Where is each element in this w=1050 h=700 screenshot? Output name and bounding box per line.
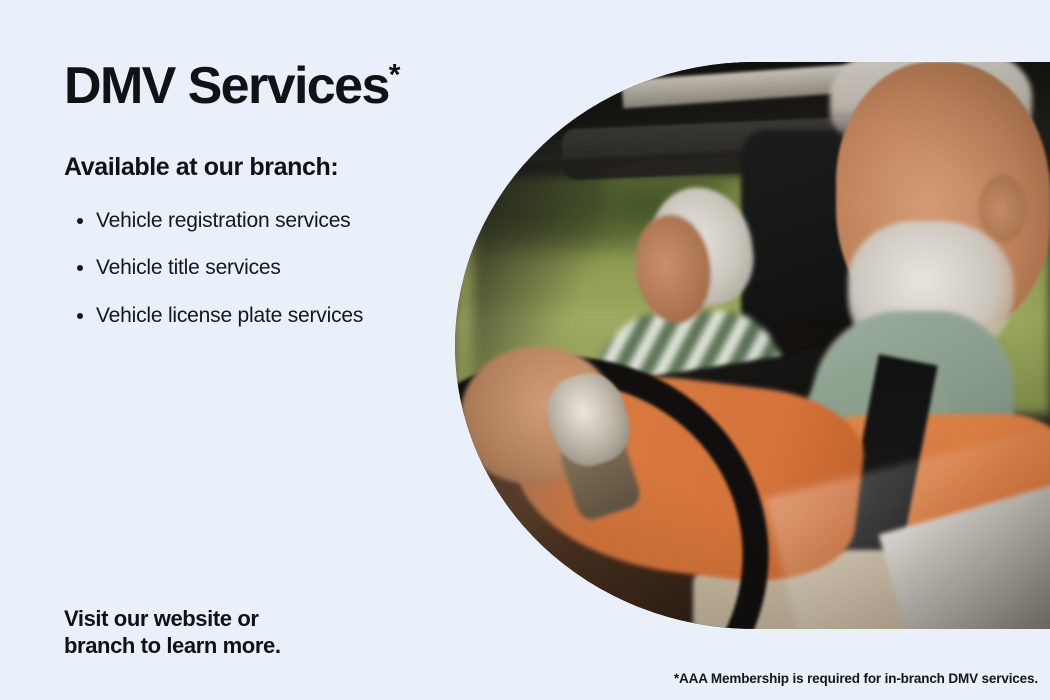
driver-photo bbox=[455, 62, 1050, 629]
bullet-icon bbox=[77, 218, 83, 224]
cta-line-2: branch to learn more. bbox=[64, 633, 281, 660]
photo-vignette bbox=[455, 62, 1050, 629]
cta-line-1: Visit our website or bbox=[64, 606, 259, 631]
list-item-label: Vehicle registration services bbox=[96, 209, 351, 232]
list-item-label: Vehicle license plate services bbox=[96, 304, 363, 327]
list-item: Vehicle registration services bbox=[64, 208, 464, 234]
call-to-action: Visit our website or branch to learn mor… bbox=[64, 606, 281, 660]
bullet-icon bbox=[77, 313, 83, 319]
page-title-text: DMV Services bbox=[64, 57, 389, 115]
services-list: Vehicle registration services Vehicle ti… bbox=[64, 208, 464, 329]
list-item: Vehicle license plate services bbox=[64, 303, 464, 329]
footnote-disclaimer: *AAA Membership is required for in-branc… bbox=[674, 671, 1038, 686]
page-title: DMV Services* bbox=[64, 58, 464, 114]
title-asterisk: * bbox=[389, 59, 401, 92]
subtitle: Available at our branch: bbox=[64, 152, 464, 182]
list-item: Vehicle title services bbox=[64, 255, 464, 281]
photo-canvas bbox=[455, 62, 1050, 629]
text-column: DMV Services* Available at our branch: V… bbox=[64, 58, 464, 350]
list-item-label: Vehicle title services bbox=[96, 256, 281, 279]
bullet-icon bbox=[77, 265, 83, 271]
dmv-services-poster: DMV Services* Available at our branch: V… bbox=[0, 0, 1050, 700]
